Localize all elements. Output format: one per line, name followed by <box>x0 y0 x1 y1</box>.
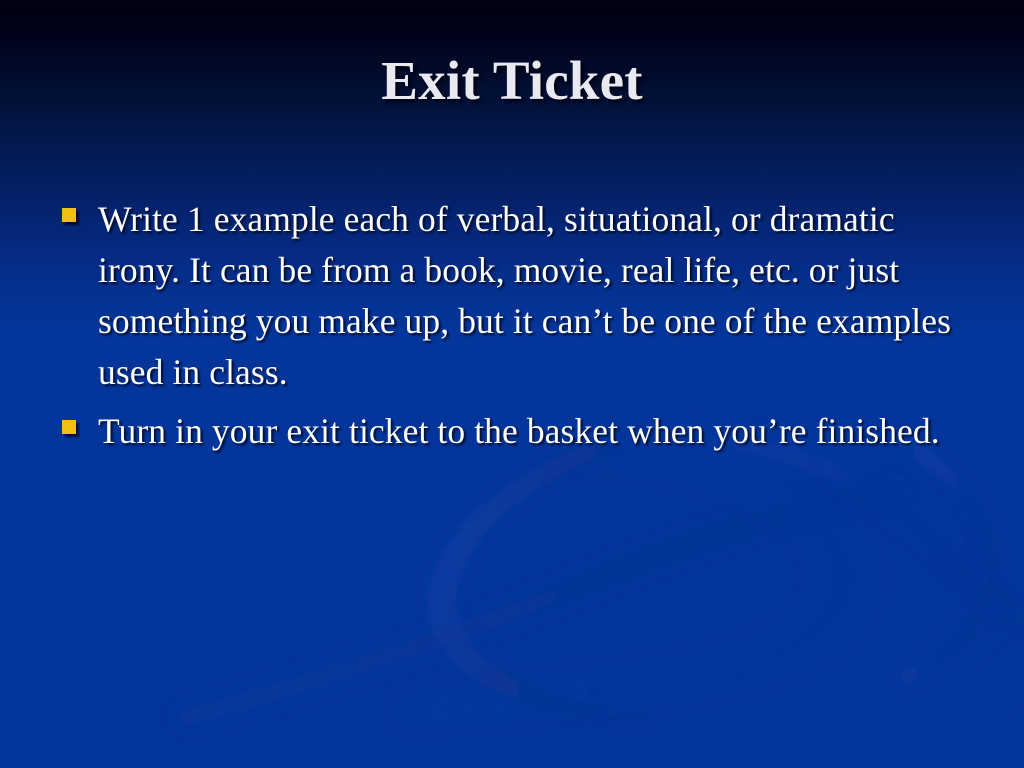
slide-body-bullet-list: Write 1 example each of verbal, situatio… <box>62 194 967 465</box>
list-item: Turn in your exit ticket to the basket w… <box>62 406 967 457</box>
square-bullet-icon <box>62 208 76 222</box>
presentation-slide: Exit Ticket Write 1 example each of verb… <box>0 0 1024 768</box>
slide-title-area: Exit Ticket <box>0 52 1024 110</box>
list-item-text: Write 1 example each of verbal, situatio… <box>98 194 967 398</box>
list-item: Write 1 example each of verbal, situatio… <box>62 194 967 398</box>
square-bullet-icon <box>62 420 76 434</box>
list-item-text: Turn in your exit ticket to the basket w… <box>98 406 967 457</box>
page-title: Exit Ticket <box>381 52 642 110</box>
